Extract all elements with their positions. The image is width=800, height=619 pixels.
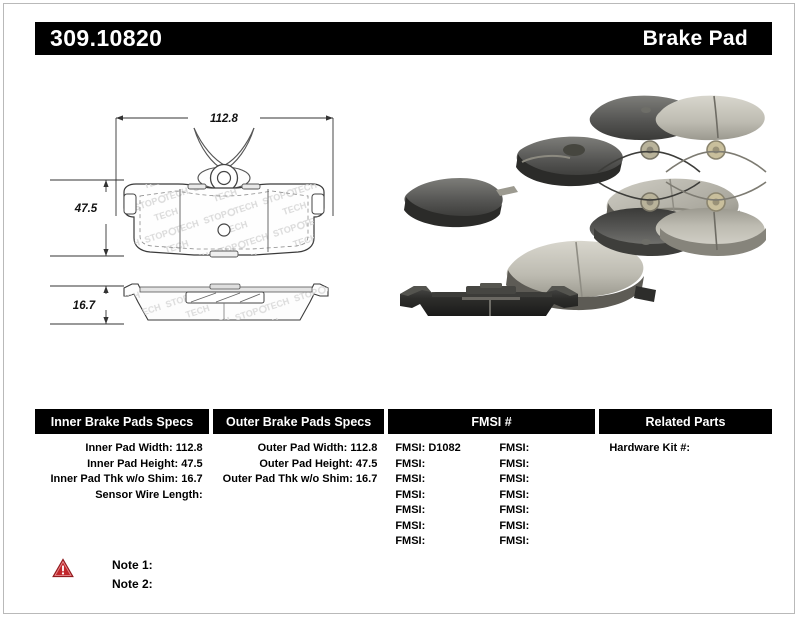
column-header-outer-specs: Outer Brake Pads Specs xyxy=(213,409,384,434)
fmsi-row: FMSI: xyxy=(491,488,595,504)
warning-triangle-icon xyxy=(52,558,74,578)
fmsi-subcolumn-left: FMSI: D1082 FMSI: FMSI: FMSI: FMSI: FMSI… xyxy=(387,441,491,550)
fmsi-row: FMSI: xyxy=(387,472,491,488)
table-header-row: Inner Brake Pads Specs Outer Brake Pads … xyxy=(35,409,772,434)
note-line: Note 2: xyxy=(112,575,153,594)
spec-row: Outer Pad Thk w/o Shim: 16.7 xyxy=(213,472,384,488)
column-header-related-parts: Related Parts xyxy=(599,409,772,434)
fmsi-row: FMSI: xyxy=(491,534,595,550)
fmsi-row: FMSI: xyxy=(491,472,595,488)
inner-specs-column: Inner Pad Width: 112.8 Inner Pad Height:… xyxy=(35,441,209,550)
spec-row: Inner Pad Width: 112.8 xyxy=(35,441,209,457)
dimension-height-label: 47.5 xyxy=(74,203,98,215)
fmsi-row: FMSI: xyxy=(491,519,595,535)
dimension-width-label: 112.8 xyxy=(210,113,239,125)
fmsi-row: FMSI: xyxy=(491,503,595,519)
spec-row: Inner Pad Height: 47.5 xyxy=(35,457,209,473)
specifications-table: Inner Brake Pads Specs Outer Brake Pads … xyxy=(35,409,772,550)
column-header-fmsi: FMSI # xyxy=(388,409,595,434)
fmsi-row: FMSI: xyxy=(387,519,491,535)
note-line: Note 1: xyxy=(112,556,153,575)
pad-front-view xyxy=(124,128,324,257)
pad-side-view xyxy=(124,284,328,320)
outer-specs-column: Outer Pad Width: 112.8 Outer Pad Height:… xyxy=(213,441,384,550)
fmsi-row: FMSI: xyxy=(387,503,491,519)
fmsi-row: FMSI: xyxy=(491,441,595,457)
spec-row: Sensor Wire Length: xyxy=(35,488,209,504)
related-parts-column: Hardware Kit #: xyxy=(599,441,772,550)
fmsi-row: FMSI: xyxy=(387,534,491,550)
dimension-height xyxy=(50,180,124,256)
technical-drawing: STOP TECH TECH 112.8 47.5 xyxy=(28,88,388,348)
related-parts-row: Hardware Kit #: xyxy=(599,441,772,457)
fmsi-row: FMSI: xyxy=(387,457,491,473)
spec-row: Outer Pad Width: 112.8 xyxy=(213,441,384,457)
part-number: 309.10820 xyxy=(50,24,162,53)
photo-edge-view xyxy=(400,283,578,316)
fmsi-row: FMSI: xyxy=(387,488,491,504)
fmsi-column: FMSI: D1082 FMSI: FMSI: FMSI: FMSI: FMSI… xyxy=(387,441,595,550)
table-body: Inner Pad Width: 112.8 Inner Pad Height:… xyxy=(35,441,772,550)
spec-row: Outer Pad Height: 47.5 xyxy=(213,457,384,473)
spec-row: Inner Pad Thk w/o Shim: 16.7 xyxy=(35,472,209,488)
notes-section: Note 1: Note 2: xyxy=(52,556,153,594)
page-title: Brake Pad xyxy=(643,24,748,53)
column-header-inner-specs: Inner Brake Pads Specs xyxy=(35,409,209,434)
photo-group-grid xyxy=(590,96,766,256)
dimension-thickness-label: 16.7 xyxy=(73,300,96,312)
product-photos xyxy=(388,80,772,350)
fmsi-subcolumn-right: FMSI: FMSI: FMSI: FMSI: FMSI: FMSI: FMSI… xyxy=(491,441,595,550)
fmsi-row: FMSI: D1082 xyxy=(387,441,491,457)
fmsi-row: FMSI: xyxy=(491,457,595,473)
